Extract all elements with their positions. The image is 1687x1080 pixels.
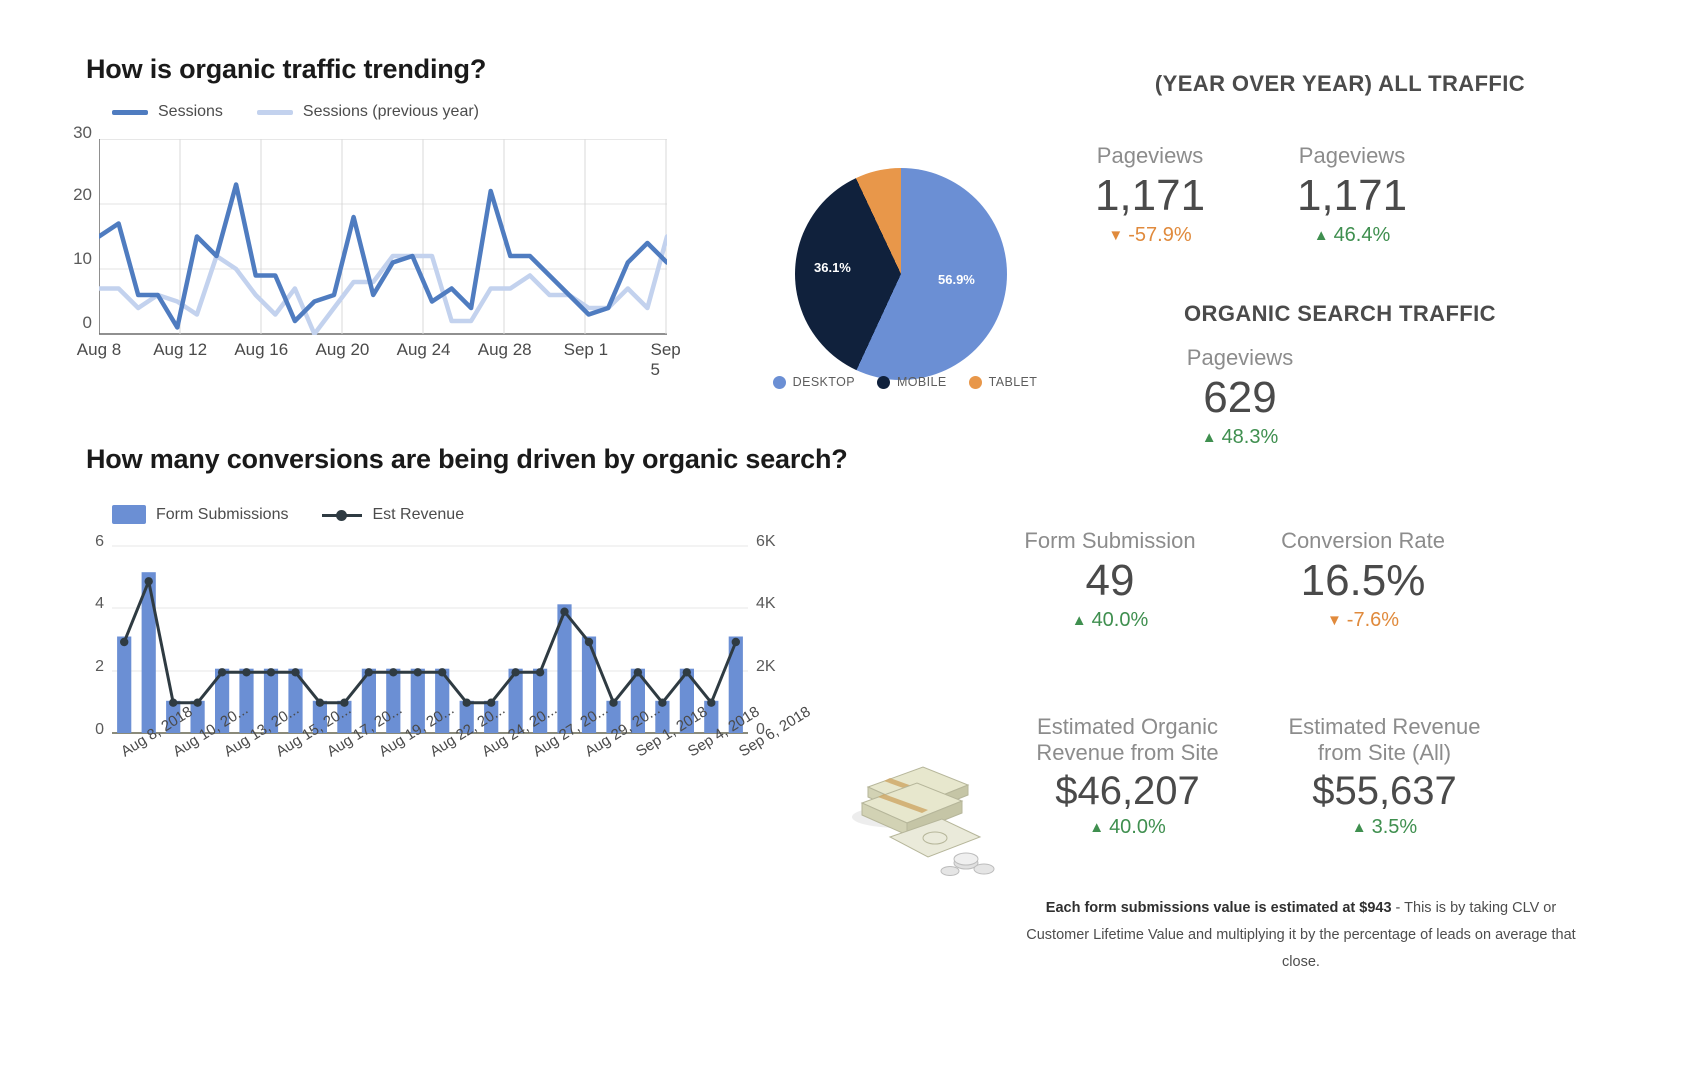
kpi-label-line1: Estimated Revenue [1262, 714, 1507, 740]
pie-legend-dot-desktop [773, 376, 786, 389]
legend-item-form-submissions[interactable]: Form Submissions [112, 505, 288, 524]
y-tick-0: 0 [95, 721, 104, 739]
pie-legend-label-desktop: DESKTOP [793, 375, 855, 389]
arrow-up-icon: ▲ [1352, 820, 1367, 835]
x-tick-label: Aug 24 [397, 340, 451, 360]
legend-label-form-submissions: Form Submissions [156, 506, 288, 524]
line-marker [732, 638, 740, 646]
arrow-up-icon: ▲ [1202, 430, 1217, 445]
kpi-delta-value: -57.9% [1128, 224, 1191, 247]
kpi-value: $55,637 [1262, 768, 1507, 814]
legend-item-sessions-previous-year[interactable]: Sessions (previous year) [257, 103, 479, 121]
x-tick-label: Sep 1 [564, 340, 608, 360]
bar [117, 637, 131, 734]
kpi-delta-value: 40.0% [1092, 609, 1149, 632]
kpi-delta: ▲ 40.0% [1000, 609, 1220, 632]
x-tick-label: Aug 20 [315, 340, 369, 360]
kpi-delta-value: 48.3% [1222, 426, 1279, 449]
line-marker [169, 699, 177, 707]
line-marker [218, 668, 226, 676]
legend-swatch-form-submissions [112, 505, 146, 524]
y2-tick-2k: 2K [756, 658, 776, 676]
legend-swatch-sessions-previous-year [257, 110, 293, 115]
pie-label-mobile: 36.1% [814, 260, 851, 275]
kpi-delta: ▼ -57.9% [1060, 224, 1240, 247]
kpi-delta: ▲ 40.0% [1010, 816, 1245, 839]
legend-label-sessions: Sessions [158, 103, 223, 121]
legend-swatch-sessions [112, 110, 148, 115]
kpi-label: Pageviews [1262, 143, 1442, 169]
line-marker [511, 668, 519, 676]
page-title-traffic: How is organic traffic trending? [86, 54, 486, 85]
series-sessions [99, 185, 667, 328]
line-marker [389, 668, 397, 676]
kpi-delta-value: 46.4% [1334, 224, 1391, 247]
kpi-value: 1,171 [1262, 171, 1442, 222]
legend-label-est-revenue: Est Revenue [372, 506, 464, 524]
kpi-delta: ▼ -7.6% [1258, 609, 1468, 632]
bar-chart-legend: Form Submissions Est Revenue [112, 505, 464, 524]
kpi-value: 16.5% [1258, 556, 1468, 607]
pie-chart-legend: DESKTOP MOBILE TABLET [765, 375, 1045, 389]
y-tick-20: 20 [73, 185, 92, 205]
kpi-label-line2: Revenue from Site [1010, 740, 1245, 766]
x-tick-label: Aug 28 [478, 340, 532, 360]
line-marker [438, 668, 446, 676]
pie-legend-label-tablet: TABLET [989, 375, 1038, 389]
kpi-value: $46,207 [1010, 768, 1245, 814]
kpi-pageviews-right: Pageviews 1,171 ▲ 46.4% [1262, 143, 1442, 247]
line-marker [193, 699, 201, 707]
y-tick-10: 10 [73, 249, 92, 269]
line-markers-est-revenue [120, 577, 740, 707]
kpi-delta-value: -7.6% [1347, 609, 1399, 632]
footnote-bold: Each form submissions value is estimated… [1046, 900, 1392, 916]
line-marker [267, 668, 275, 676]
kpi-label: Form Submission [1000, 528, 1220, 554]
arrow-up-icon: ▲ [1089, 820, 1104, 835]
dashboard-root: How is organic traffic trending? Session… [0, 0, 1687, 1080]
pie-legend-item-tablet[interactable]: TABLET [969, 375, 1038, 389]
y-tick-2: 2 [95, 658, 104, 676]
arrow-down-icon: ▼ [1327, 613, 1342, 628]
pie-legend-item-mobile[interactable]: MOBILE [877, 375, 947, 389]
line-marker [291, 668, 299, 676]
line-marker [634, 668, 642, 676]
y-tick-4: 4 [95, 595, 104, 613]
kpi-form-submission: Form Submission 49 ▲ 40.0% [1000, 528, 1220, 632]
line-marker [658, 699, 666, 707]
line-marker [120, 638, 128, 646]
pie-legend-item-desktop[interactable]: DESKTOP [773, 375, 855, 389]
x-tick-label: Sep 5 [651, 340, 684, 380]
legend-label-sessions-previous-year: Sessions (previous year) [303, 103, 479, 121]
pie-legend-label-mobile: MOBILE [897, 375, 947, 389]
pie-legend-dot-tablet [969, 376, 982, 389]
y-tick-30: 30 [73, 123, 92, 143]
line-marker [609, 699, 617, 707]
line-marker [242, 668, 250, 676]
line-marker [560, 608, 568, 616]
legend-item-est-revenue[interactable]: Est Revenue [322, 506, 464, 524]
y2-tick-4k: 4K [756, 595, 776, 613]
pie-label-desktop: 56.9% [938, 272, 975, 287]
x-tick-label: Aug 8 [77, 340, 121, 360]
line-marker [707, 699, 715, 707]
line-marker [365, 668, 373, 676]
kpi-organic-pageviews: Pageviews 629 ▲ 48.3% [1140, 345, 1340, 449]
arrow-up-icon: ▲ [1072, 613, 1087, 628]
line-marker [463, 699, 471, 707]
x-tick-label: Aug 16 [234, 340, 288, 360]
coins [941, 853, 994, 876]
kpi-estimated-revenue-all: Estimated Revenue from Site (All) $55,63… [1262, 714, 1507, 839]
money-stack-icon [838, 745, 1008, 885]
y-tick-0: 0 [83, 313, 92, 333]
kpi-label: Conversion Rate [1258, 528, 1468, 554]
bar-chart-x-axis: Aug 8, 2018Aug 10, 20...Aug 13, 20...Aug… [0, 738, 790, 828]
line-chart-x-axis: Aug 8Aug 12Aug 16Aug 20Aug 24Aug 28Sep 1… [60, 340, 700, 364]
footnote: Each form submissions value is estimated… [1016, 895, 1586, 975]
organic-traffic-line-chart[interactable] [99, 139, 667, 335]
arrow-down-icon: ▼ [1108, 228, 1123, 243]
x-tick-label: Aug 12 [153, 340, 207, 360]
y-tick-6: 6 [95, 533, 104, 551]
section-heading-year-over-year: (YEAR OVER YEAR) ALL TRAFFIC [1060, 71, 1620, 97]
legend-swatch-est-revenue [322, 509, 362, 521]
y2-tick-6k: 6K [756, 533, 776, 551]
kpi-label-line1: Estimated Organic [1010, 714, 1245, 740]
kpi-value: 1,171 [1060, 171, 1240, 222]
line-marker [683, 668, 691, 676]
kpi-delta: ▲ 3.5% [1262, 816, 1507, 839]
line-marker [536, 668, 544, 676]
kpi-label-line2: from Site (All) [1262, 740, 1507, 766]
kpi-delta: ▲ 46.4% [1262, 224, 1442, 247]
kpi-delta-value: 40.0% [1109, 816, 1166, 839]
line-marker [414, 668, 422, 676]
kpi-label: Pageviews [1140, 345, 1340, 371]
line-marker [145, 577, 153, 585]
line-chart-legend: Sessions Sessions (previous year) [112, 103, 479, 121]
line-marker [316, 699, 324, 707]
kpi-delta-value: 3.5% [1372, 816, 1418, 839]
page-title-conversions: How many conversions are being driven by… [86, 444, 848, 475]
kpi-value: 629 [1140, 373, 1340, 424]
section-heading-organic-search-traffic: ORGANIC SEARCH TRAFFIC [1060, 301, 1620, 327]
kpi-delta: ▲ 48.3% [1140, 426, 1340, 449]
kpi-label: Pageviews [1060, 143, 1240, 169]
kpi-value: 49 [1000, 556, 1220, 607]
kpi-pageviews-left: Pageviews 1,171 ▼ -57.9% [1060, 143, 1240, 247]
kpi-conversion-rate: Conversion Rate 16.5% ▼ -7.6% [1258, 528, 1468, 632]
arrow-up-icon: ▲ [1314, 228, 1329, 243]
legend-item-sessions[interactable]: Sessions [112, 103, 223, 121]
kpi-estimated-organic-revenue: Estimated Organic Revenue from Site $46,… [1010, 714, 1245, 839]
pie-legend-dot-mobile [877, 376, 890, 389]
line-marker [585, 638, 593, 646]
